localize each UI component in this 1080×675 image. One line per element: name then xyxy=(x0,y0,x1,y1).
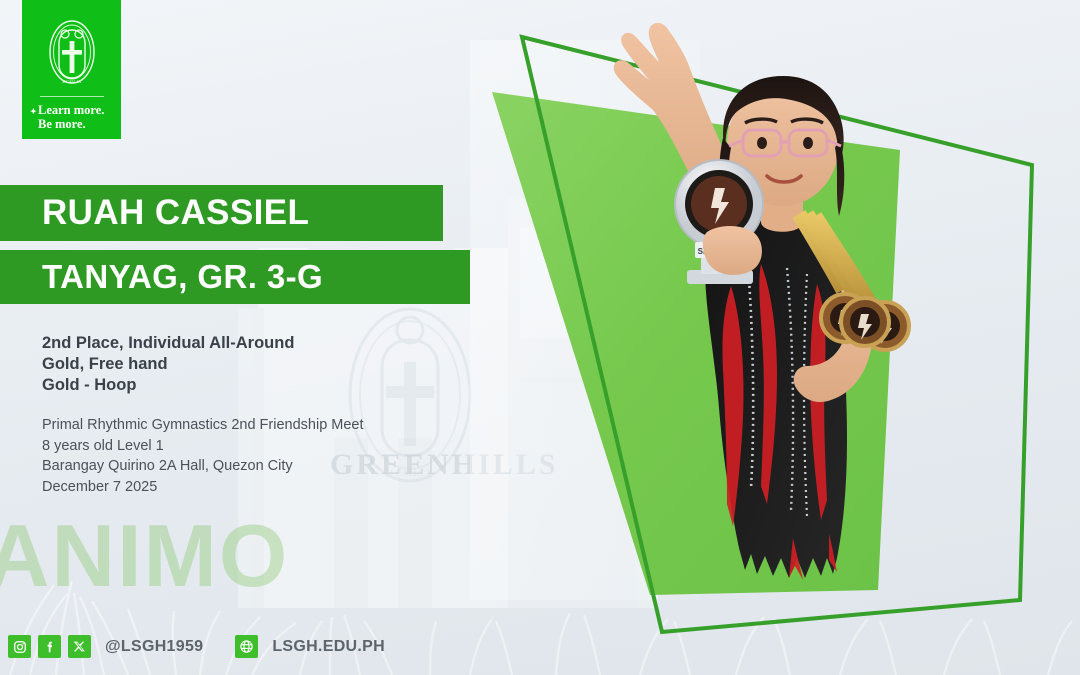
event-details: Primal Rhythmic Gymnastics 2nd Friendshi… xyxy=(42,415,364,497)
school-logo-block: MCMLIX ✦ Learn more. Be more. xyxy=(22,0,121,139)
awards-list: 2nd Place, Individual All-Around Gold, F… xyxy=(42,333,294,396)
school-crest-icon: MCMLIX xyxy=(43,17,101,87)
animo-watermark: ANIMO xyxy=(0,512,289,600)
globe-icon[interactable] xyxy=(235,635,258,658)
event-date: December 7 2025 xyxy=(42,477,364,498)
school-tagline: ✦ Learn more. Be more. xyxy=(22,104,121,131)
award-item: Gold - Hoop xyxy=(42,375,294,396)
social-handle[interactable]: @LSGH1959 xyxy=(105,638,203,656)
awardee-name-line-2: TANYAG, GR. 3-G xyxy=(42,258,323,296)
award-item: Gold, Free hand xyxy=(42,354,294,375)
awardee-name-banner-2: TANYAG, GR. 3-G xyxy=(0,250,470,304)
website-url[interactable]: LSGH.EDU.PH xyxy=(272,638,385,656)
star-icon: ✦ xyxy=(30,105,37,119)
tagline-line-2: Be more. xyxy=(38,118,121,132)
awardee-photo: Silver Medal xyxy=(555,18,975,658)
awardee-name-banner-1: RUAH CASSIEL xyxy=(0,185,443,241)
instagram-icon[interactable] xyxy=(8,635,31,658)
event-category: 8 years old Level 1 xyxy=(42,436,364,457)
award-item: 2nd Place, Individual All-Around xyxy=(42,333,294,354)
svg-text:MCMLIX: MCMLIX xyxy=(61,79,81,84)
logo-divider xyxy=(40,96,104,97)
tagline-line-1: Learn more. xyxy=(38,104,121,118)
facebook-icon[interactable] xyxy=(38,635,61,658)
awardee-name-line-1: RUAH CASSIEL xyxy=(42,193,309,233)
footer-social-bar: @LSGH1959 LSGH.EDU.PH xyxy=(8,635,385,658)
event-venue: Barangay Quirino 2A Hall, Quezon City xyxy=(42,456,364,477)
poster-canvas: MCMLIX GREENHILLS xyxy=(0,0,1080,675)
x-twitter-icon[interactable] xyxy=(68,635,91,658)
event-title: Primal Rhythmic Gymnastics 2nd Friendshi… xyxy=(42,415,364,436)
